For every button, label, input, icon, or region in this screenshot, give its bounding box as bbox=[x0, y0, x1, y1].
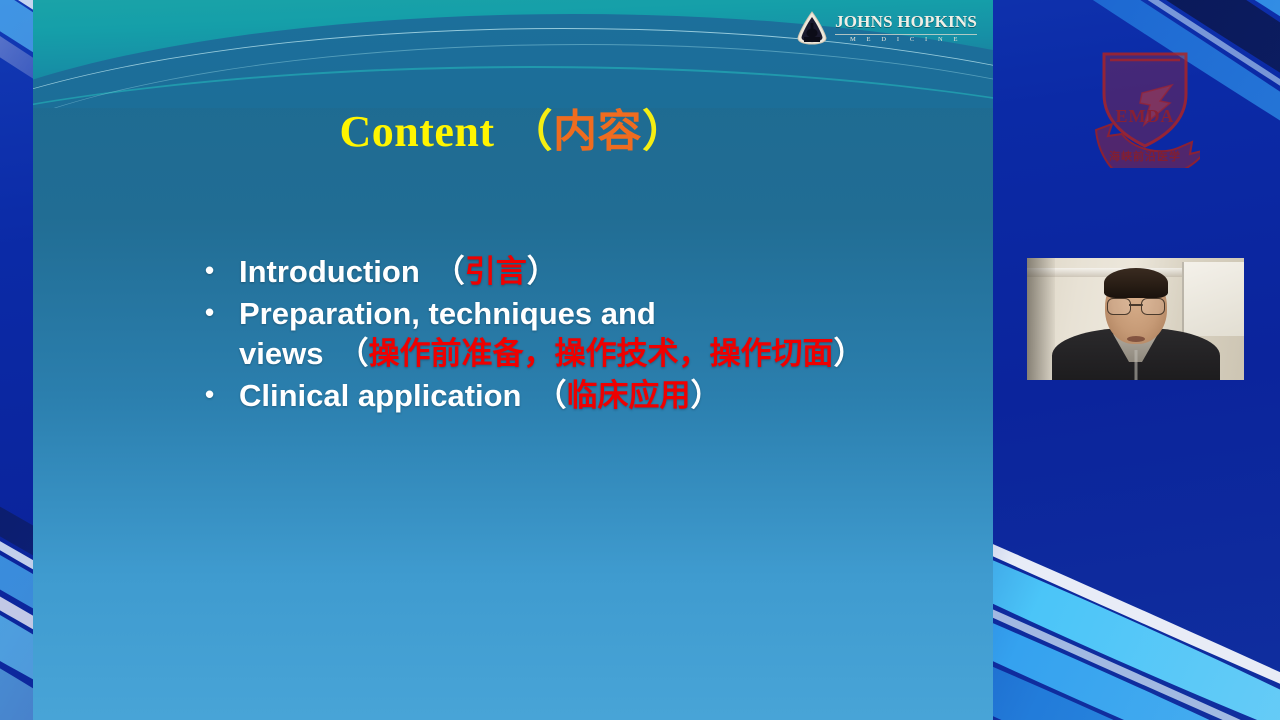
bullet-english-line2: views bbox=[239, 336, 323, 371]
presenter-zipper bbox=[1134, 350, 1137, 380]
title-paren-open: （ bbox=[509, 106, 554, 157]
bullet-paren-open: （ bbox=[337, 336, 368, 372]
slide-header-banner: JOHNS HOPKINS M E D I C I N E bbox=[33, 0, 993, 108]
video-player-screen: EMDA 海峡前沿医学 JOHNS HOPKINS M bbox=[0, 0, 1280, 720]
bullet-marker: • bbox=[205, 376, 239, 414]
presenter-hair bbox=[1104, 268, 1168, 298]
bullet-paren-close: ） bbox=[527, 254, 558, 290]
presenter-glasses-icon bbox=[1107, 298, 1165, 313]
bullet-content: Clinical application（临床应用） bbox=[239, 376, 905, 417]
svg-text:EMDA: EMDA bbox=[1116, 106, 1175, 126]
bullet-english: Clinical application bbox=[239, 378, 522, 413]
page-title: Content（内容） bbox=[33, 108, 993, 156]
list-item: • Preparation, techniques andviews（操作前准备… bbox=[205, 294, 905, 375]
logo-name: JOHNS HOPKINS bbox=[835, 13, 977, 30]
bullet-paren-open: （ bbox=[536, 378, 567, 414]
presenter-video-thumbnail[interactable] bbox=[1027, 258, 1244, 380]
presentation-slide: JOHNS HOPKINS M E D I C I N E Content（内容… bbox=[33, 0, 993, 720]
video-whiteboard bbox=[1182, 262, 1244, 336]
bullet-marker: • bbox=[205, 294, 239, 332]
bullet-marker: • bbox=[205, 252, 239, 290]
bullet-english: Introduction bbox=[239, 254, 420, 289]
bullet-chinese: 引言 bbox=[465, 254, 527, 290]
bullet-content: Introduction（引言） bbox=[239, 252, 905, 293]
johns-hopkins-medicine-logo: JOHNS HOPKINS M E D I C I N E bbox=[796, 8, 977, 48]
emda-crest-icon: EMDA 海峡前沿医学 bbox=[1090, 38, 1200, 168]
glasses-lens-right bbox=[1141, 298, 1165, 315]
title-english: Content bbox=[339, 107, 494, 156]
bullet-chinese: 操作前准备，操作技术，操作切面 bbox=[368, 336, 833, 372]
johns-hopkins-shield-icon bbox=[796, 11, 828, 45]
bullet-paren-close: ） bbox=[691, 378, 722, 414]
title-chinese: 内容 bbox=[553, 106, 642, 157]
bullet-chinese: 临床应用 bbox=[567, 378, 691, 414]
logo-subtitle: M E D I C I N E bbox=[835, 34, 977, 44]
bullet-content: Preparation, techniques andviews（操作前准备，操… bbox=[239, 294, 905, 375]
presenter-mouth bbox=[1127, 336, 1145, 342]
glasses-lens-left bbox=[1107, 298, 1131, 315]
list-item: • Introduction（引言） bbox=[205, 252, 905, 293]
bullet-english-line1: Preparation, techniques and bbox=[239, 296, 656, 331]
svg-text:海峡前沿医学: 海峡前沿医学 bbox=[1109, 149, 1181, 163]
title-paren-close: ） bbox=[642, 106, 687, 157]
list-item: • Clinical application（临床应用） bbox=[205, 376, 905, 417]
bullet-paren-close: ） bbox=[833, 336, 864, 372]
bullet-paren-open: （ bbox=[434, 254, 465, 290]
slide-bullet-list: • Introduction（引言） • Preparation, techni… bbox=[205, 252, 905, 417]
